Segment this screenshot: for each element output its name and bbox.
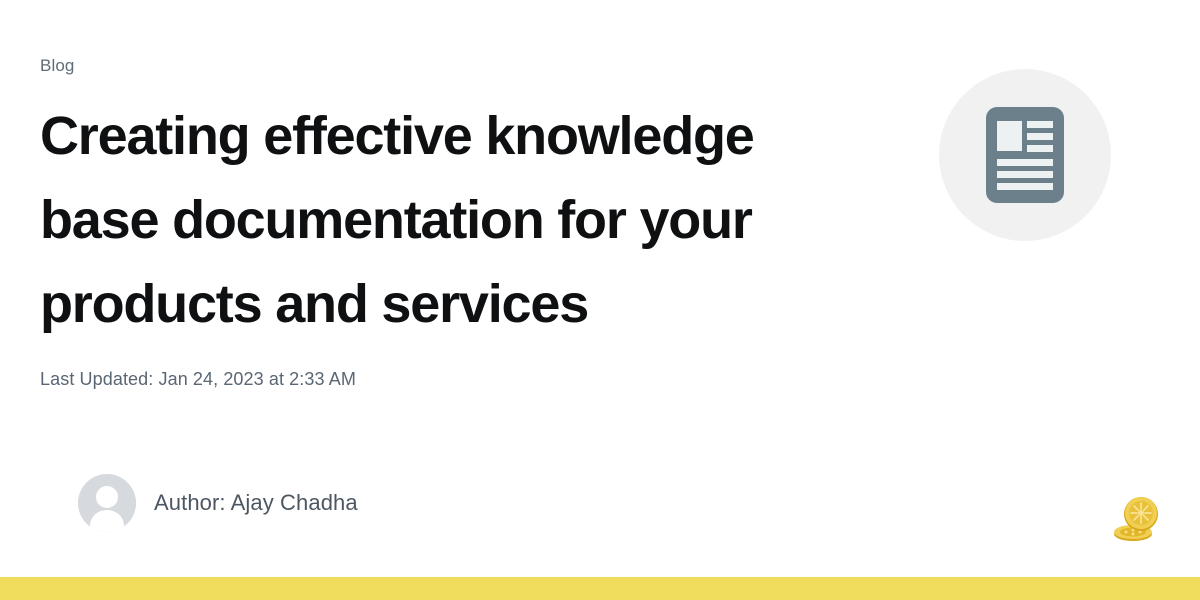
breadcrumb-kicker-blog[interactable]: Blog (40, 56, 920, 76)
author-name-label: Author: Ajay Chadha (154, 490, 358, 516)
page-title: Creating effective knowledge base docume… (40, 94, 870, 346)
bottom-accent-bar (0, 577, 1200, 600)
article-hero-page: Blog Creating effective knowledge base d… (0, 0, 1200, 600)
document-article-icon (986, 107, 1064, 203)
article-header: Blog Creating effective knowledge base d… (40, 56, 920, 390)
user-placeholder-avatar-icon (78, 474, 136, 532)
last-updated-timestamp: Last Updated: Jan 24, 2023 at 2:33 AM (40, 368, 920, 390)
author-row: Author: Ajay Chadha (78, 474, 358, 532)
document-badge (939, 69, 1111, 241)
gold-coins-icon (1111, 492, 1163, 544)
